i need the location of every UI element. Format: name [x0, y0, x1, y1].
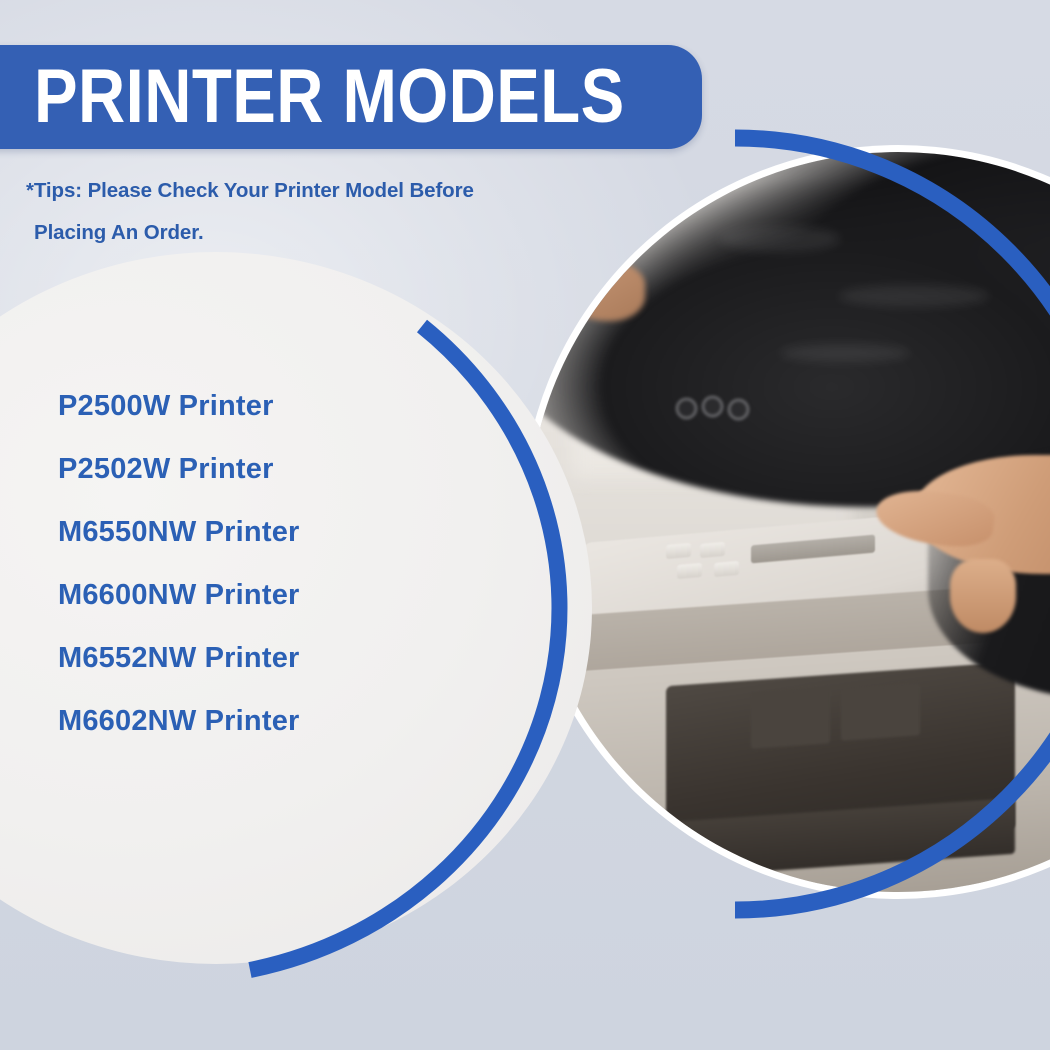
product-info-banner: PRINTER MODELS *Tips: Please Check Your …: [0, 0, 1050, 1050]
header-banner: PRINTER MODELS: [0, 45, 702, 149]
thumb: [950, 559, 1017, 633]
printer-tray-divider-2: [841, 683, 920, 740]
page-title: PRINTER MODELS: [34, 59, 625, 135]
printer-button-4: [714, 561, 739, 577]
printer-button-3: [677, 562, 702, 578]
list-item: P2500W Printer: [58, 375, 478, 438]
printer-button-2: [700, 542, 725, 558]
sleeve-cuff-buttons: [676, 396, 766, 418]
printer-photo: [528, 152, 1050, 892]
printer-model-list: P2500W Printer P2502W Printer M6550NW Pr…: [58, 375, 478, 753]
black-suit-sleeve-top: [528, 152, 1050, 507]
list-item: M6600NW Printer: [58, 564, 478, 627]
printer-tray-divider-1: [751, 687, 830, 748]
hand-holding-lid: [565, 263, 645, 321]
tips-note: *Tips: Please Check Your Printer Model B…: [26, 170, 526, 254]
tips-line-2: Placing An Order.: [26, 212, 526, 254]
list-item: P2502W Printer: [58, 438, 478, 501]
sleeve-fold-2: [839, 285, 989, 307]
printer-button-1: [666, 543, 691, 559]
tips-line-1: *Tips: Please Check Your Printer Model B…: [26, 179, 474, 202]
printer-photo-circle: [528, 152, 1050, 892]
list-item: M6550NW Printer: [58, 501, 478, 564]
sleeve-fold-1: [720, 226, 840, 252]
list-item: M6602NW Printer: [58, 690, 478, 753]
list-item: M6552NW Printer: [58, 627, 478, 690]
